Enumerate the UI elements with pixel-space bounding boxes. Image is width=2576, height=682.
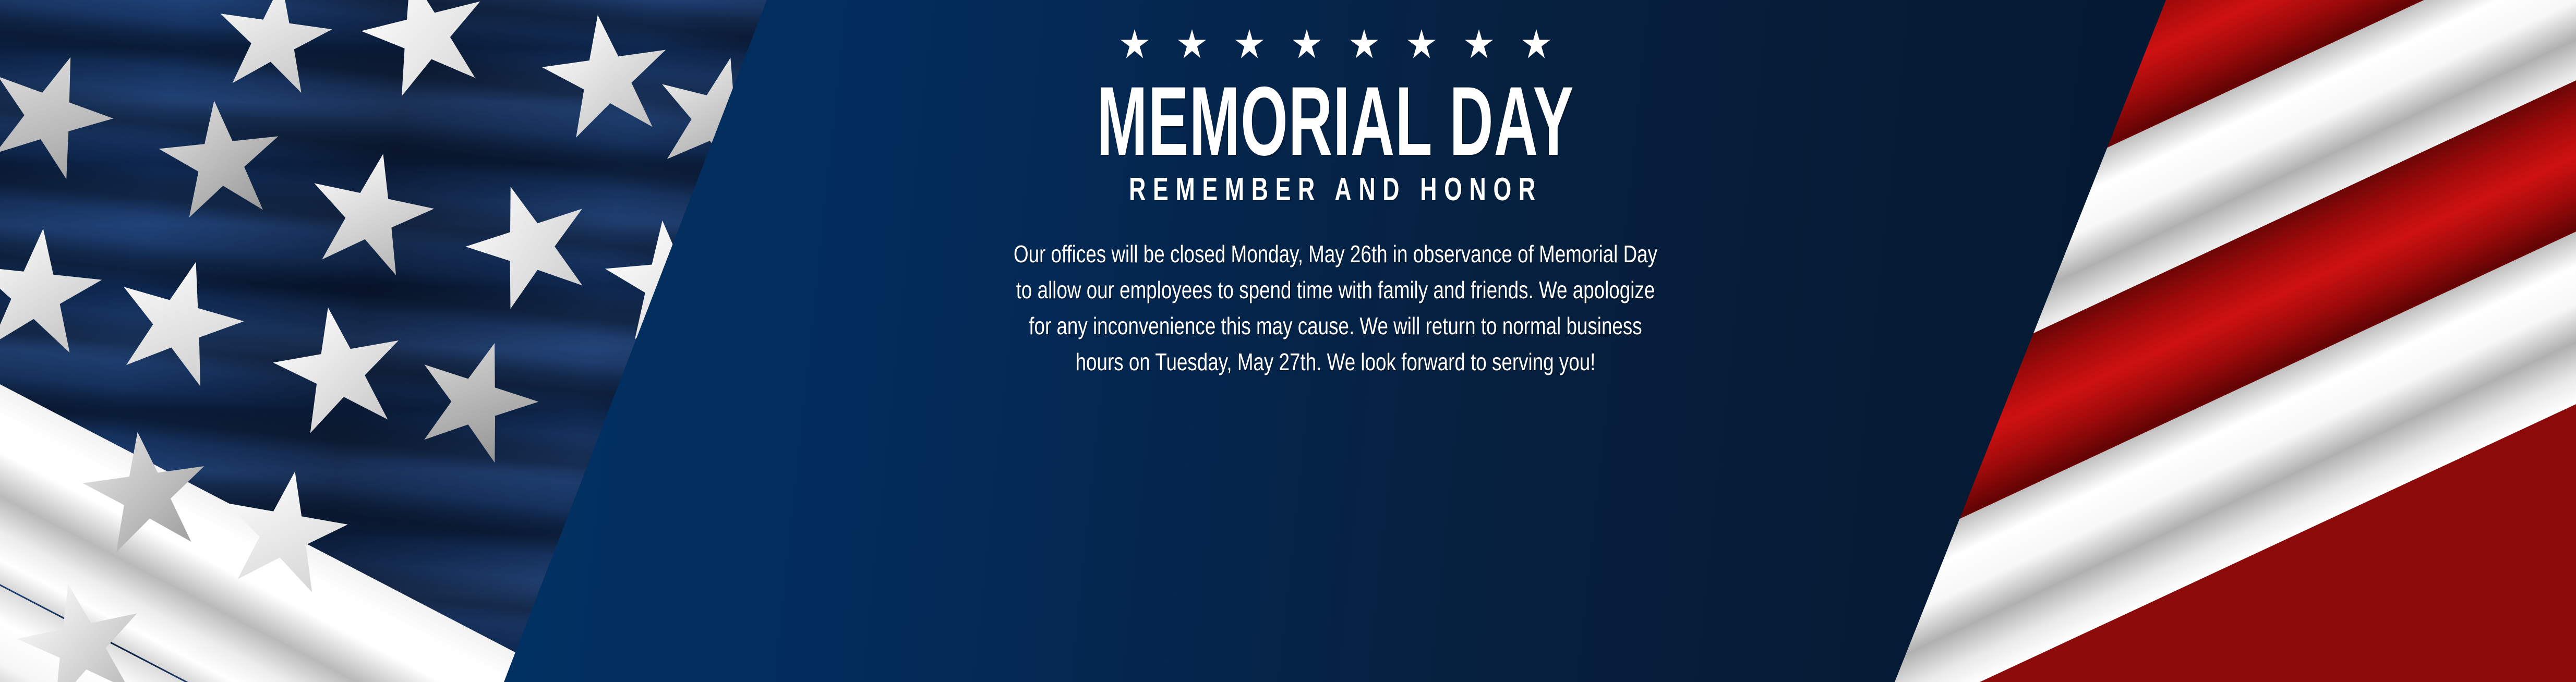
star-icon (464, 180, 595, 310)
star-icon (214, 0, 334, 98)
star-icon (1521, 29, 1551, 59)
star-icon (219, 467, 350, 597)
closure-notice-line: for any inconvenience this may cause. We… (862, 308, 1809, 344)
star-icon (1464, 29, 1494, 59)
star-icon (1120, 29, 1150, 59)
closure-notice-line: to allow our employees to spend time wit… (862, 272, 1809, 308)
star-icon (1349, 29, 1379, 59)
star-icon (112, 255, 245, 388)
star-icon (412, 336, 540, 464)
closure-notice-line: hours on Tuesday, May 27th. We look forw… (862, 344, 1809, 380)
star-icon (271, 302, 407, 438)
star-icon (1177, 29, 1207, 59)
star-icon (0, 224, 104, 360)
closure-notice: Our offices will be closed Monday, May 2… (862, 236, 1809, 380)
star-icon (81, 428, 211, 558)
page-title: MEMORIAL DAY (1097, 74, 1574, 168)
star-icon (1292, 29, 1322, 59)
closure-notice-line: Our offices will be closed Monday, May 2… (862, 236, 1809, 272)
star-icon (16, 579, 146, 682)
star-icon (305, 149, 436, 279)
star-icon (0, 50, 115, 180)
star-icon (1234, 29, 1265, 59)
banner-content: MEMORIAL DAY REMEMBER AND HONOR Our offi… (746, 0, 1925, 682)
decorative-star-row (1120, 27, 1551, 62)
star-icon (1406, 29, 1437, 59)
star-icon (157, 96, 284, 224)
memorial-day-banner: MEMORIAL DAY REMEMBER AND HONOR Our offi… (0, 0, 2576, 682)
page-subtitle: REMEMBER AND HONOR (1129, 171, 1543, 208)
star-icon (360, 0, 490, 99)
